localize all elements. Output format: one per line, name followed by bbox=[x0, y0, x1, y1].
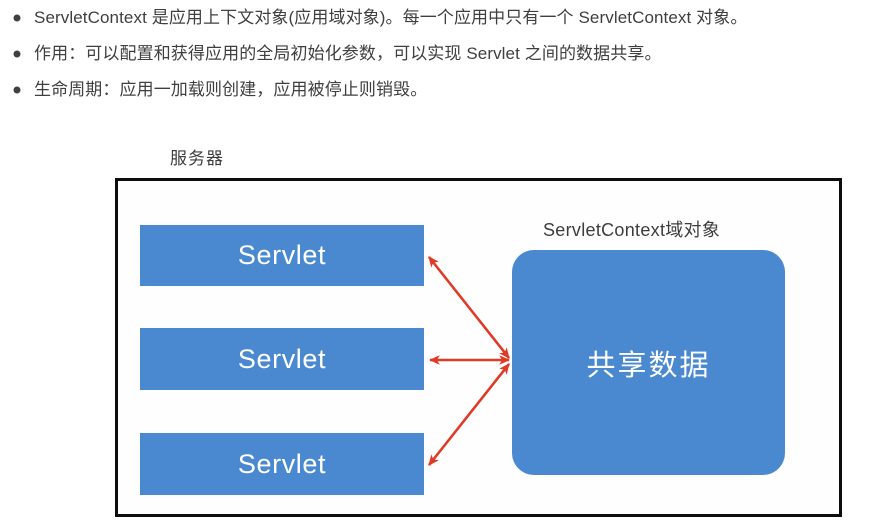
server-label: 服务器 bbox=[170, 144, 224, 169]
servlet-context-diagram: 服务器 Servlet Servlet Servlet ServletConte… bbox=[0, 128, 890, 526]
servlet-node-label: Servlet bbox=[238, 240, 326, 271]
servlet-node-label: Servlet bbox=[238, 344, 326, 375]
list-item-text: 作用：可以配置和获得应用的全局初始化参数，可以实现 Servlet 之间的数据共… bbox=[34, 43, 662, 65]
list-item-text: ServletContext 是应用上下文对象(应用域对象)。每一个应用中只有一… bbox=[34, 7, 747, 29]
servlet-node-label: Servlet bbox=[238, 449, 326, 480]
list-item: 作用：可以配置和获得应用的全局初始化参数，可以实现 Servlet 之间的数据共… bbox=[0, 36, 890, 72]
shared-data-label: 共享数据 bbox=[586, 342, 710, 384]
bullet-dot-icon bbox=[14, 51, 21, 58]
bullet-list: ServletContext 是应用上下文对象(应用域对象)。每一个应用中只有一… bbox=[0, 0, 890, 108]
shared-data-node: 共享数据 bbox=[512, 250, 785, 475]
servlet-node-2: Servlet bbox=[140, 328, 424, 390]
list-item: 生命周期：应用一加载则创建，应用被停止则销毁。 bbox=[0, 72, 890, 108]
bullet-dot-icon bbox=[14, 15, 21, 22]
list-item-text: 生命周期：应用一加载则创建，应用被停止则销毁。 bbox=[34, 79, 427, 101]
servlet-node-3: Servlet bbox=[140, 433, 424, 495]
servlet-node-1: Servlet bbox=[140, 225, 424, 286]
servlet-context-label: ServletContext域对象 bbox=[543, 216, 720, 242]
bullet-dot-icon bbox=[14, 87, 21, 94]
list-item: ServletContext 是应用上下文对象(应用域对象)。每一个应用中只有一… bbox=[0, 0, 890, 36]
